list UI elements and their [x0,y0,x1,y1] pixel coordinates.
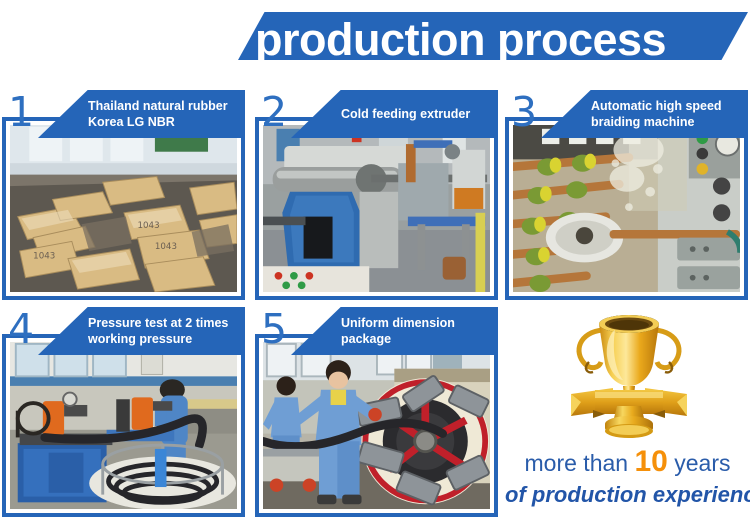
step-label-line-5b: package [341,331,493,347]
step-label-line-1a: Thailand natural rubber [88,98,240,114]
step-label-1: Thailand natural rubber Korea LG NBR [88,90,240,138]
step-label-line-5a: Uniform dimension [341,315,493,331]
step-label-3: Automatic high speed braiding machine [591,90,743,138]
photo-frame-2 [255,117,498,300]
svg-text:1043: 1043 [138,221,160,231]
step-number-5: 5 [261,303,287,355]
step-label-4: Pressure test at 2 times working pressur… [88,307,240,355]
experience-tagline-line1: more than 10 years [505,445,750,479]
photo-frame-1: 1043 1043 1043 [2,117,245,300]
page-header: production process [0,0,750,88]
experience-years-number: 10 [634,445,667,478]
step-label-line-1b: Korea LG NBR [88,114,240,130]
step-label-2: Cold feeding extruder [341,90,493,138]
tagline-before-text: more than [525,450,629,476]
photo-frame-4 [2,334,245,517]
step-card-2[interactable]: 2 Cold feeding extruder [255,88,498,300]
step-label-5: Uniform dimension package [341,307,493,355]
photo-frame-3 [505,117,748,300]
svg-text:1043: 1043 [33,252,55,262]
step-photo-1: 1043 1043 1043 [10,125,237,292]
step-number-2: 2 [261,86,287,138]
svg-text:1043: 1043 [155,242,177,252]
step-number-1: 1 [8,86,34,138]
page-title: production process [255,9,750,75]
step-photo-2 [263,125,490,292]
step-label-line-3a: Automatic high speed [591,98,743,114]
step-label-line-4b: working pressure [88,331,240,347]
experience-tagline-line2: of production experience [505,482,750,508]
step-label-line-3b: braiding machine [591,114,743,130]
photo-frame-5 [255,334,498,517]
step-card-3[interactable]: 3 Automatic high speed braiding machine [505,88,748,300]
step-card-4[interactable]: 4 Pressure test at 2 times working press… [2,305,245,517]
experience-promo: more than 10 years of production experie… [505,305,750,525]
step-card-1[interactable]: 1043 1043 1043 1 Thailand natural rubber… [2,88,245,300]
step-photo-4 [10,342,237,509]
step-number-3: 3 [511,86,537,138]
step-label-line-4a: Pressure test at 2 times [88,315,240,331]
step-card-5[interactable]: 5 Uniform dimension package [255,305,498,517]
step-number-4: 4 [8,303,34,355]
step-photo-5 [263,342,490,509]
step-photo-3 [513,125,740,292]
gold-trophy-icon [565,310,693,442]
tagline-after-text: years [674,450,730,476]
step-label-line-2a: Cold feeding extruder [341,106,493,122]
